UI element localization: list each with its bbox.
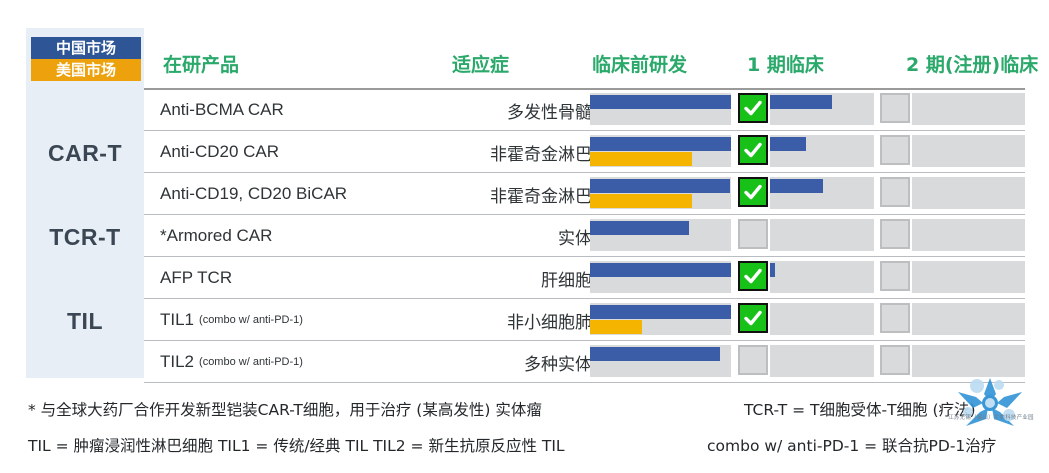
stage-progress-group <box>590 257 1025 299</box>
cell-product: TIL2(combo w/ anti-PD-1) <box>160 341 303 383</box>
progress-track-phase1 <box>770 219 874 251</box>
milestone-checkbox-unchecked[interactable] <box>738 219 768 249</box>
product-name: TIL2 <box>160 352 194 372</box>
bar-china-preclinical <box>590 221 689 235</box>
header-indication: 适应症 <box>452 50 509 77</box>
bar-china-preclinical <box>590 179 730 193</box>
bar-china-phase1 <box>770 179 823 193</box>
progress-track-phase1 <box>770 345 874 377</box>
bar-china-phase1 <box>770 95 832 109</box>
footnote-til-glossary: TIL = 肿瘤浸润性淋巴细胞 TIL1 = 传统/经典 TIL TIL2 = … <box>28 434 565 456</box>
milestone-checkbox-unchecked[interactable] <box>738 345 768 375</box>
stage-progress-group <box>590 89 1025 131</box>
milestone-checkbox-unchecked[interactable] <box>880 177 910 207</box>
progress-track-phase1 <box>770 135 874 167</box>
bar-china-preclinical <box>590 95 731 109</box>
product-name: TIL1 <box>160 310 194 330</box>
table-row: TIL1(combo w/ anti-PD-1)非小细胞肺癌 <box>144 299 1025 341</box>
stage-progress-group <box>590 173 1025 215</box>
product-name: Anti-BCMA CAR <box>160 100 284 120</box>
table-row: AFP TCR肝细胞癌 <box>144 257 1025 299</box>
product-name: *Armored CAR <box>160 226 272 246</box>
milestone-checkbox-checked[interactable] <box>738 177 768 207</box>
header-product: 在研产品 <box>163 50 239 77</box>
category-label-til: TIL <box>26 308 144 335</box>
cell-product: Anti-CD19, CD20 BiCAR <box>160 173 347 215</box>
product-name: AFP TCR <box>160 268 232 288</box>
progress-track-phase2 <box>912 345 1025 377</box>
cell-indication: 非霍奇金淋巴瘤 <box>434 131 609 173</box>
progress-track-phase2 <box>912 93 1025 125</box>
progress-track-phase1 <box>770 303 874 335</box>
cell-indication: 肝细胞癌 <box>434 257 609 299</box>
table-row: *Armored CAR实体瘤 <box>144 215 1025 257</box>
slide-root: CAR-T TCR-T TIL 中国市场 美国市场 在研产品 适应症 临床前研发… <box>0 0 1049 473</box>
stage-progress-group <box>590 341 1025 383</box>
legend-china-market: 中国市场 <box>31 37 141 59</box>
bar-us-preclinical <box>590 320 642 334</box>
progress-track-preclinical <box>590 177 731 209</box>
progress-track-phase2 <box>912 303 1025 335</box>
progress-track-phase1 <box>770 261 874 293</box>
cell-product: Anti-CD20 CAR <box>160 131 279 173</box>
watermark-caption: 江苏无锡（锡山）生命科技产业园 <box>936 413 1046 421</box>
category-label-car-t: CAR-T <box>26 140 144 167</box>
milestone-checkbox-checked[interactable] <box>738 135 768 165</box>
footnote-armored-car: * 与全球大药厂合作开发新型铠装CAR-T细胞，用于治疗 (某高发性) 实体瘤 <box>28 398 542 420</box>
cell-product: TIL1(combo w/ anti-PD-1) <box>160 299 303 341</box>
milestone-checkbox-unchecked[interactable] <box>880 345 910 375</box>
milestone-checkbox-unchecked[interactable] <box>880 303 910 333</box>
product-name-note: (combo w/ anti-PD-1) <box>199 356 303 368</box>
milestone-checkbox-checked[interactable] <box>738 93 768 123</box>
stage-progress-group <box>590 299 1025 341</box>
cell-indication: 实体瘤 <box>434 215 609 257</box>
legend-us-market: 美国市场 <box>31 59 141 81</box>
bar-us-preclinical <box>590 194 692 208</box>
progress-track-phase1 <box>770 177 874 209</box>
progress-track-preclinical <box>590 93 731 125</box>
milestone-checkbox-unchecked[interactable] <box>880 135 910 165</box>
cell-indication: 非小细胞肺癌 <box>434 299 609 341</box>
header-phase2: 2 期(注册)临床 <box>906 50 1038 77</box>
milestone-checkbox-unchecked[interactable] <box>880 219 910 249</box>
stage-progress-group <box>590 215 1025 257</box>
cell-product: *Armored CAR <box>160 215 272 257</box>
bar-china-preclinical <box>590 347 720 361</box>
cell-indication: 非霍奇金淋巴瘤 <box>434 173 609 215</box>
milestone-checkbox-unchecked[interactable] <box>880 261 910 291</box>
milestone-checkbox-checked[interactable] <box>738 303 768 333</box>
bar-china-preclinical <box>590 263 731 277</box>
footnote-combo-glossary: combo w/ anti-PD-1 = 联合抗PD-1治疗 <box>707 434 996 456</box>
table-row: Anti-BCMA CAR多发性骨髓瘤 <box>144 89 1025 131</box>
progress-track-preclinical <box>590 303 731 335</box>
bar-us-preclinical <box>590 152 692 166</box>
stage-progress-group <box>590 131 1025 173</box>
table-row: Anti-CD19, CD20 BiCAR非霍奇金淋巴瘤 <box>144 173 1025 215</box>
progress-track-phase2 <box>912 219 1025 251</box>
bar-china-phase1 <box>770 263 775 277</box>
progress-track-preclinical <box>590 345 731 377</box>
cell-product: Anti-BCMA CAR <box>160 89 284 131</box>
product-name: Anti-CD19, CD20 BiCAR <box>160 184 347 204</box>
progress-track-phase2 <box>912 177 1025 209</box>
bar-china-preclinical <box>590 137 731 151</box>
progress-track-phase2 <box>912 261 1025 293</box>
cell-indication: 多发性骨髓瘤 <box>434 89 609 131</box>
progress-track-phase1 <box>770 93 874 125</box>
header-phase1: 1 期临床 <box>747 50 824 77</box>
table-row: TIL2(combo w/ anti-PD-1)多种实体瘤 <box>144 341 1025 383</box>
product-name-note: (combo w/ anti-PD-1) <box>199 314 303 326</box>
progress-track-preclinical <box>590 135 731 167</box>
market-legend: 中国市场 美国市场 <box>31 37 141 81</box>
category-label-tcr-t: TCR-T <box>26 224 144 251</box>
progress-track-preclinical <box>590 219 731 251</box>
progress-track-preclinical <box>590 261 731 293</box>
header-preclinical: 临床前研发 <box>592 50 687 77</box>
bar-china-phase1 <box>770 137 806 151</box>
progress-track-phase2 <box>912 135 1025 167</box>
product-name: Anti-CD20 CAR <box>160 142 279 162</box>
milestone-checkbox-unchecked[interactable] <box>880 93 910 123</box>
table-row: Anti-CD20 CAR非霍奇金淋巴瘤 <box>144 131 1025 173</box>
bar-china-preclinical <box>590 305 731 319</box>
cell-product: AFP TCR <box>160 257 232 299</box>
milestone-checkbox-checked[interactable] <box>738 261 768 291</box>
cell-indication: 多种实体瘤 <box>434 341 609 383</box>
